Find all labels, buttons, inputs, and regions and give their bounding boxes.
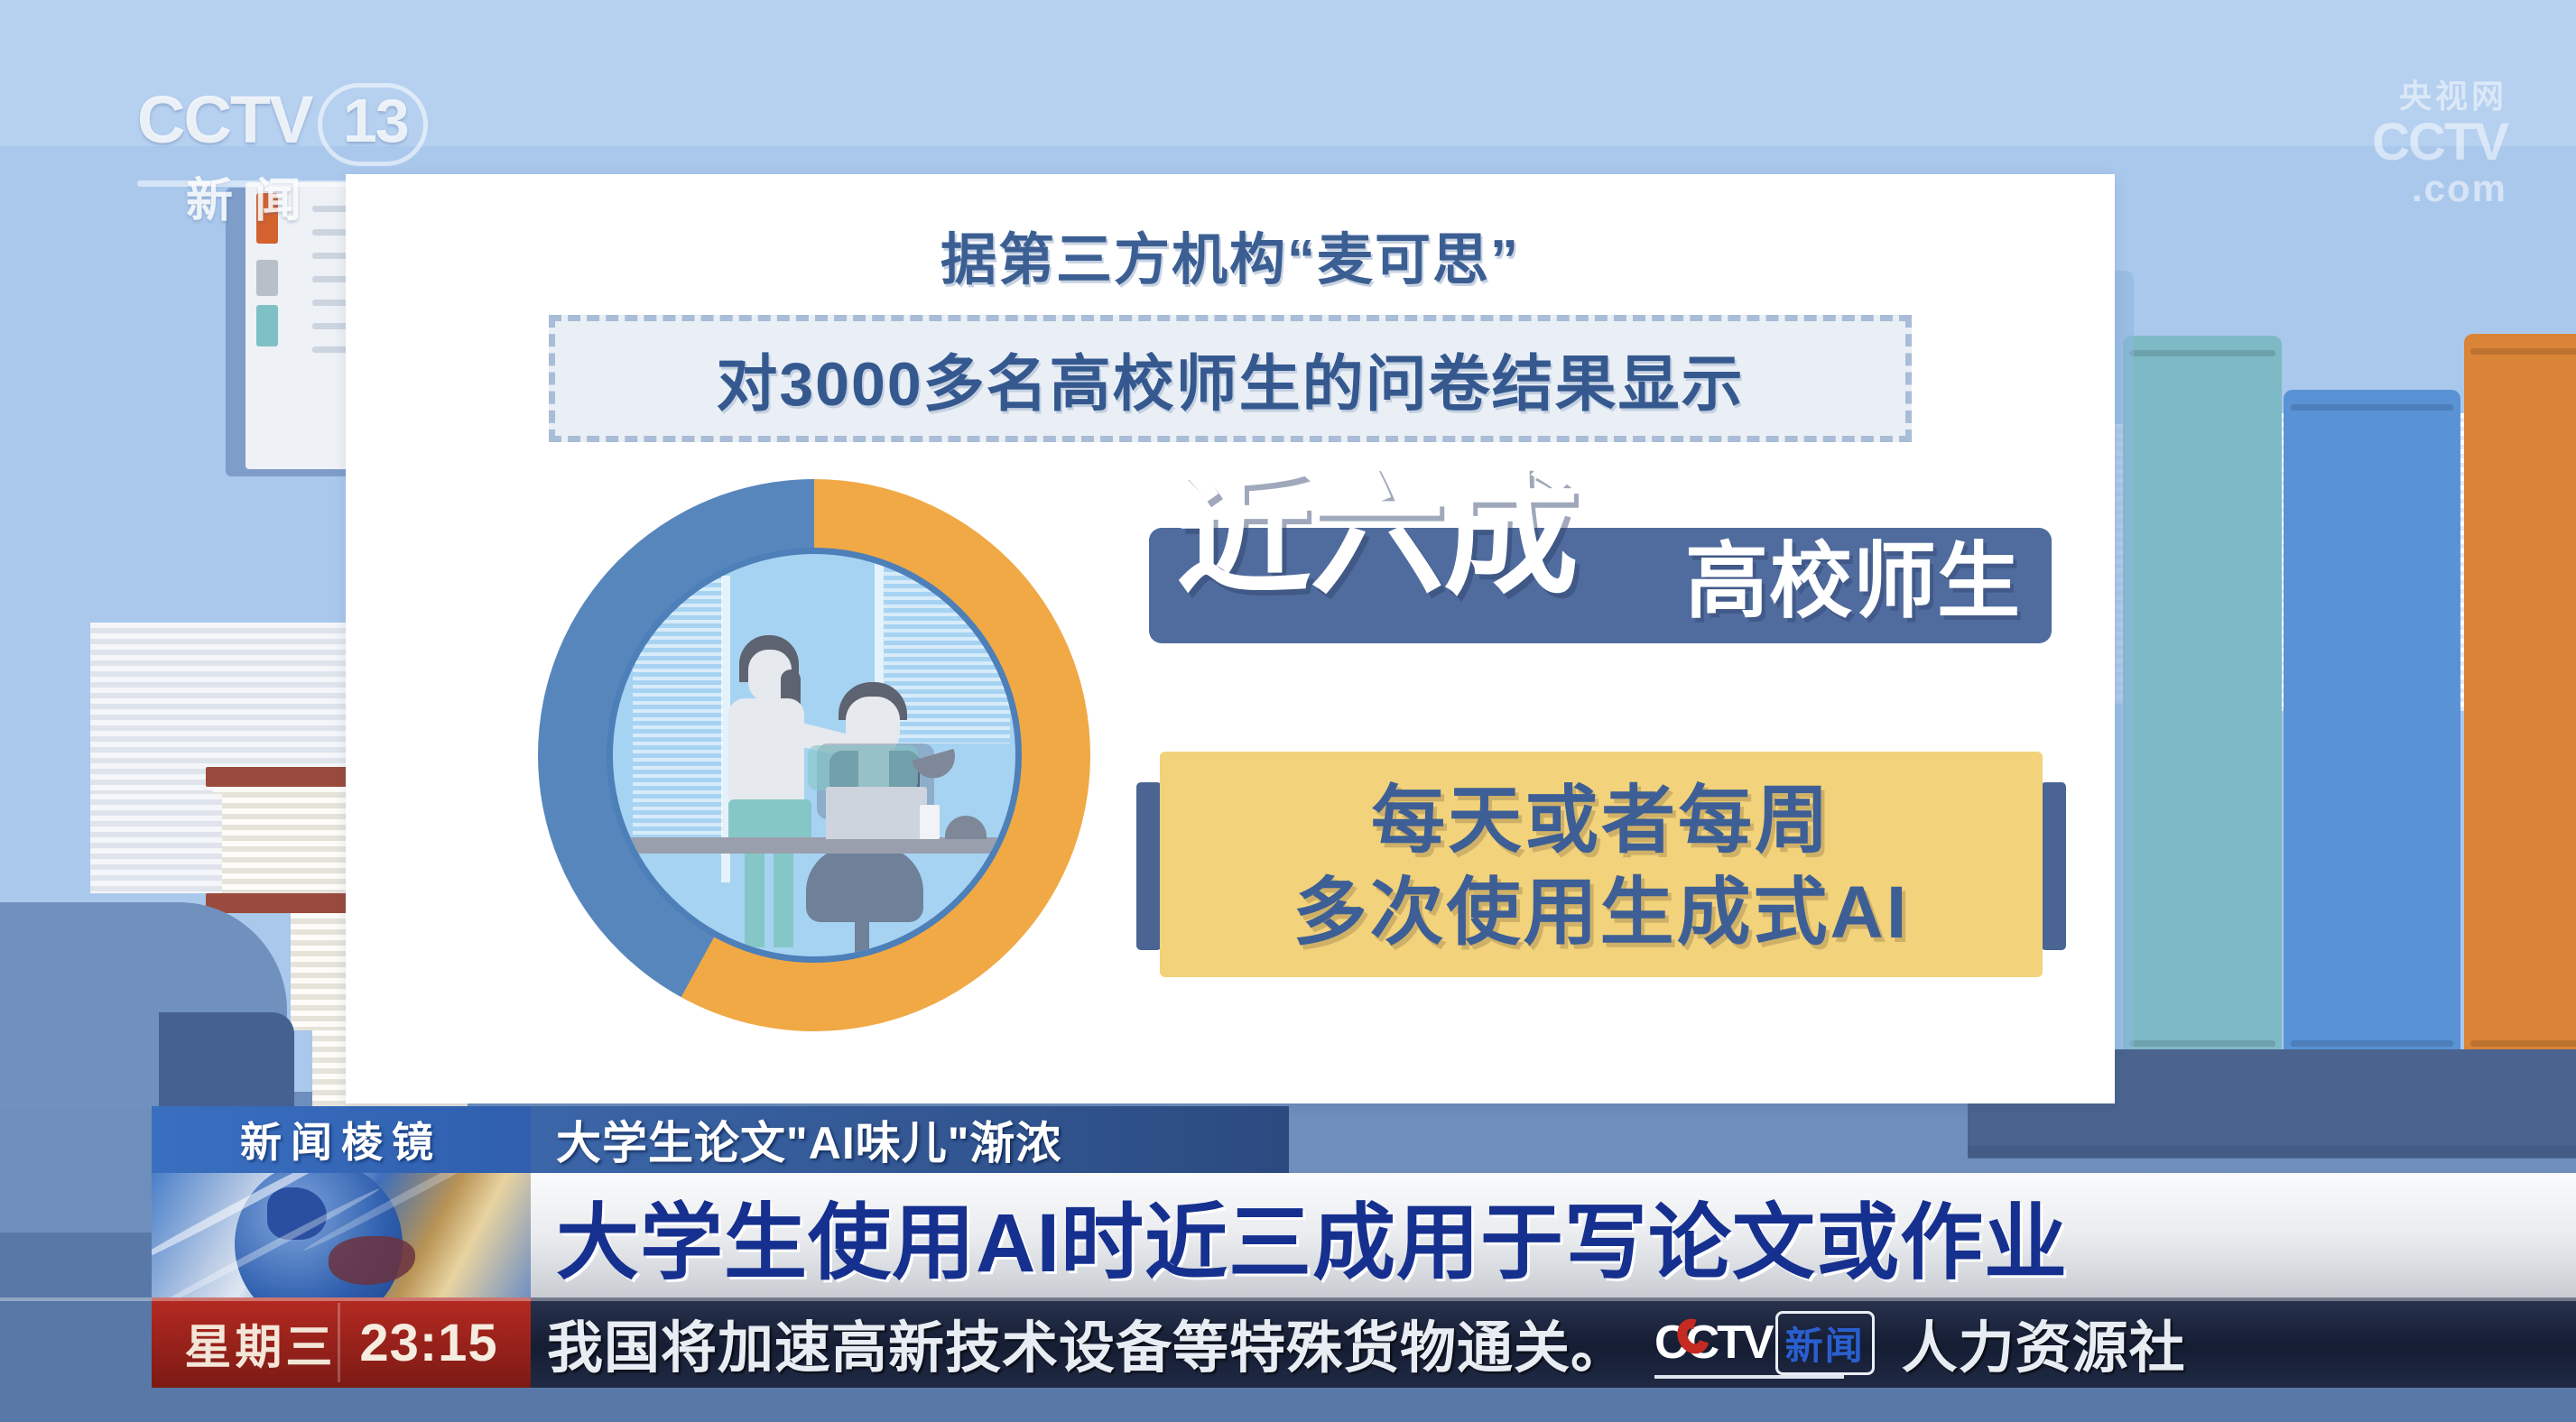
news-ticker: 我国将加速高新技术设备等特殊货物通关。 CCTV 新闻 人力资源社	[531, 1297, 2576, 1388]
subheadline-bar: 大学生论文"AI味儿"渐浓	[531, 1106, 1289, 1173]
illustration-woman-torso	[728, 698, 804, 805]
pile-gray-pages	[90, 794, 222, 893]
survey-line-box: 对3000多名高校师生的问卷结果显示	[549, 315, 1912, 442]
book-cap	[2291, 404, 2453, 411]
program-label: 新闻棱镜	[240, 1110, 442, 1169]
book-cap	[2470, 348, 2576, 355]
book-cap	[2129, 1040, 2275, 1047]
cctv-news-logo: CCTV 新闻	[1654, 1311, 1875, 1375]
illustration-desk	[622, 837, 1022, 854]
illustration-woman-legs	[774, 846, 793, 947]
detail-line-2: 多次使用生成式AI	[1160, 867, 2043, 959]
stat-highlight: 近六成	[1176, 466, 1577, 602]
stat-banner-blue: 近六成 高校师生	[1149, 528, 2052, 643]
donut-chart	[538, 479, 1090, 1031]
cctv-news-box: 新闻	[1775, 1311, 1875, 1375]
program-label-box: 新闻棱镜	[152, 1106, 531, 1173]
background-blue-shape-dark	[159, 1012, 294, 1112]
illustration-blinds	[633, 579, 723, 850]
illustration-laptop	[826, 787, 927, 839]
globe-graphic	[152, 1173, 531, 1297]
watermark-cn-label: 央视网	[2372, 70, 2507, 117]
survey-line: 对3000多名高校师生的问卷结果显示	[575, 334, 1886, 423]
detail-card-tab-left	[1136, 782, 1162, 950]
detail-card-yellow: 每天或者每周 多次使用生成式AI	[1160, 752, 2043, 977]
ticker-top-edge	[0, 1297, 2576, 1301]
background-book-blue	[2284, 390, 2460, 1066]
illustration-chair-seat	[806, 846, 923, 922]
ticker-next-text: 人力资源社	[1902, 1302, 2186, 1383]
book-cap	[2470, 1040, 2576, 1047]
book-cap	[2129, 350, 2275, 356]
background-book-teal	[2123, 336, 2282, 1066]
bookmark-teal	[256, 305, 278, 346]
illustration-cup	[920, 805, 940, 839]
cctv-watermark: 央视网 CCTV .com	[2372, 70, 2507, 210]
ticker-bar: 星期三 23:15 我国将加速高新技术设备等特殊货物通关。 CCTV 新闻 人力…	[0, 1297, 2576, 1391]
book-cap	[2291, 1040, 2453, 1047]
weekday-label: 星期三	[184, 1309, 336, 1377]
bookmark-gray	[256, 260, 278, 296]
subheadline-text: 大学生论文"AI味儿"渐浓	[556, 1107, 1061, 1172]
time-box: 星期三 23:15	[152, 1297, 531, 1388]
illustration-desk-object	[945, 816, 987, 839]
clock-label: 23:15	[359, 1313, 497, 1373]
ticker-text: 我国将加速高新技术设备等特殊货物通关。	[547, 1302, 1627, 1383]
cctv-logo-underline	[1654, 1375, 1844, 1379]
source-line: 据第三方机构“麦可思”	[346, 174, 2115, 295]
stat-subject: 高校师生	[1685, 540, 2021, 623]
cctv-news-label: 新闻	[1785, 1325, 1865, 1367]
detail-card-tab-right	[2041, 782, 2066, 950]
headline-bar: 大学生使用AI时近三成用于写论文或作业	[531, 1173, 2576, 1297]
donut-center-illustration	[607, 548, 1022, 963]
illustration-chair-headrest	[808, 745, 918, 790]
illustration-chair-stem	[855, 915, 869, 963]
watermark-domain: .com	[2372, 167, 2507, 210]
illustration-woman-legs	[745, 846, 764, 947]
cctv-brand: CCTV	[1654, 1316, 1772, 1370]
time-divider	[338, 1303, 340, 1382]
channel-number: 13	[343, 90, 408, 152]
headline-text: 大学生使用AI时近三成用于写论文或作业	[556, 1176, 2068, 1296]
detail-card-wrap: 每天或者每周 多次使用生成式AI	[1136, 752, 2066, 977]
infographic-card: 据第三方机构“麦可思” 对3000多名高校师生的问卷结果显示	[346, 174, 2115, 1103]
detail-line-1: 每天或者每周	[1160, 775, 2043, 867]
watermark-brand: CCTV	[2372, 117, 2507, 167]
background-book-orange	[2464, 334, 2576, 1066]
globe-landmass	[329, 1236, 415, 1285]
lower-third: 新闻棱镜 大学生论文"AI味儿"渐浓 大学生使用AI时近三成用于写论文或作业 星…	[0, 1106, 2576, 1422]
